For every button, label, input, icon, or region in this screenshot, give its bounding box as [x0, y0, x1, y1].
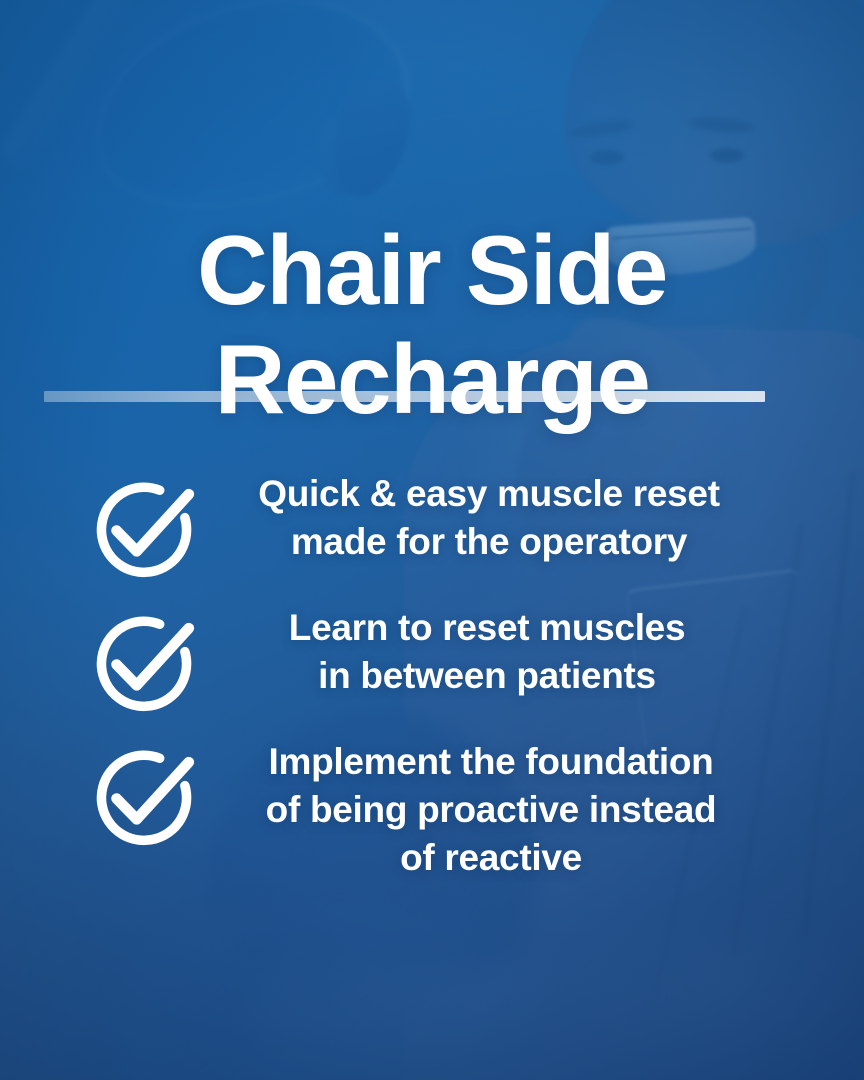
check-circle-icon	[88, 608, 200, 720]
list-item: Quick & easy muscle reset made for the o…	[0, 470, 864, 586]
list-item-text: Implement the foundation of being proact…	[200, 738, 864, 882]
list-item-line-2: of being proactive instead	[266, 789, 717, 830]
list-item: Implement the foundation of being proact…	[0, 738, 864, 882]
check-circle-icon	[88, 474, 200, 586]
list-item-line-1: Learn to reset muscles	[289, 607, 685, 648]
list-item-line-2: made for the operatory	[291, 521, 687, 562]
list-item-line-1: Quick & easy muscle reset	[258, 473, 719, 514]
check-circle-icon	[88, 742, 200, 854]
promo-poster: Chair Side Recharge Quick & easy muscle …	[0, 0, 864, 1080]
list-item-text: Quick & easy muscle reset made for the o…	[200, 470, 864, 566]
list-item-text: Learn to reset muscles in between patien…	[200, 604, 864, 700]
poster-content: Chair Side Recharge Quick & easy muscle …	[0, 0, 864, 1080]
page-title-line-1: Chair Side	[40, 216, 824, 326]
list-item: Learn to reset muscles in between patien…	[0, 604, 864, 720]
page-title: Chair Side Recharge	[0, 216, 864, 436]
page-title-line-2: Recharge	[40, 325, 824, 435]
list-item-line-2: in between patients	[318, 655, 656, 696]
benefit-list: Quick & easy muscle reset made for the o…	[0, 470, 864, 900]
title-divider	[44, 391, 765, 402]
list-item-line-3: of reactive	[400, 837, 582, 878]
list-item-line-1: Implement the foundation	[268, 741, 713, 782]
